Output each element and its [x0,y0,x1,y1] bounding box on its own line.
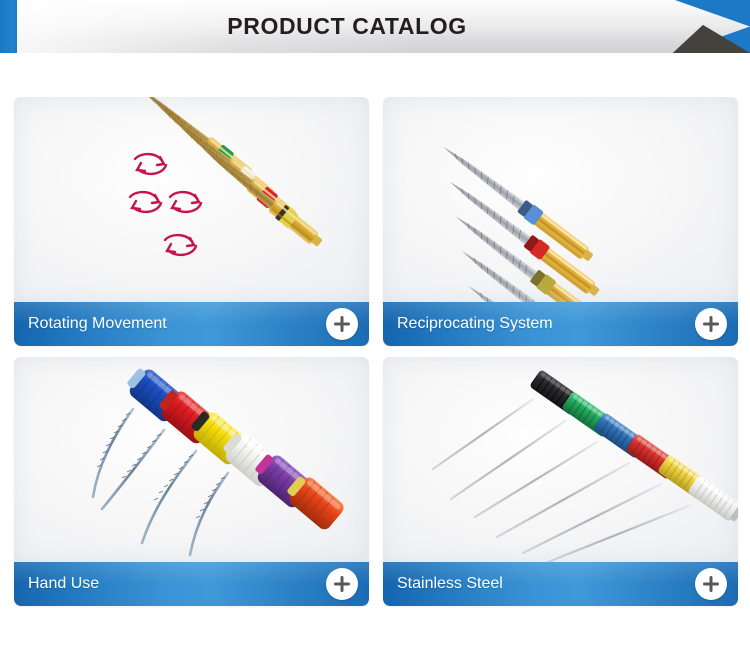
page-title: PRODUCT CATALOG [17,0,677,53]
product-card-rotating-movement[interactable]: Rotating Movement [14,97,369,346]
hand-files-illustration [14,357,369,564]
expand-button-reciprocating-system[interactable] [695,308,727,340]
expand-button-hand-use[interactable] [326,568,358,600]
card-title-hand-use: Hand Use [28,562,99,606]
product-photo-rotating-movement [14,97,369,304]
card-label-bar-stainless-steel[interactable]: Stainless Steel [383,562,738,606]
product-card-reciprocating-system[interactable]: Reciprocating System [383,97,738,346]
product-photo-stainless-steel [383,357,738,564]
card-title-stainless-steel: Stainless Steel [397,562,503,606]
product-card-hand-use[interactable]: Hand Use [14,357,369,606]
header-accent-bar-gloss [0,0,17,53]
stainless-files-illustration [383,357,738,564]
product-card-stainless-steel[interactable]: Stainless Steel [383,357,738,606]
header-accent-bar [0,0,17,53]
card-label-bar-reciprocating-system[interactable]: Reciprocating System [383,302,738,346]
plus-icon [695,308,727,340]
expand-button-rotating-movement[interactable] [326,308,358,340]
product-photo-reciprocating-system [383,97,738,304]
card-title-reciprocating-system: Reciprocating System [397,302,553,346]
plus-icon [326,308,358,340]
card-label-bar-hand-use[interactable]: Hand Use [14,562,369,606]
card-title-rotating-movement: Rotating Movement [28,302,167,346]
rotary-files-illustration [14,97,369,304]
rotation-arrow-icon [130,154,201,255]
product-photo-hand-use [14,357,369,564]
reciprocating-files-illustration [383,97,738,304]
card-label-bar-rotating-movement[interactable]: Rotating Movement [14,302,369,346]
page-header: PRODUCT CATALOG [0,0,750,53]
plus-icon [326,568,358,600]
expand-button-stainless-steel[interactable] [695,568,727,600]
plus-icon [695,568,727,600]
